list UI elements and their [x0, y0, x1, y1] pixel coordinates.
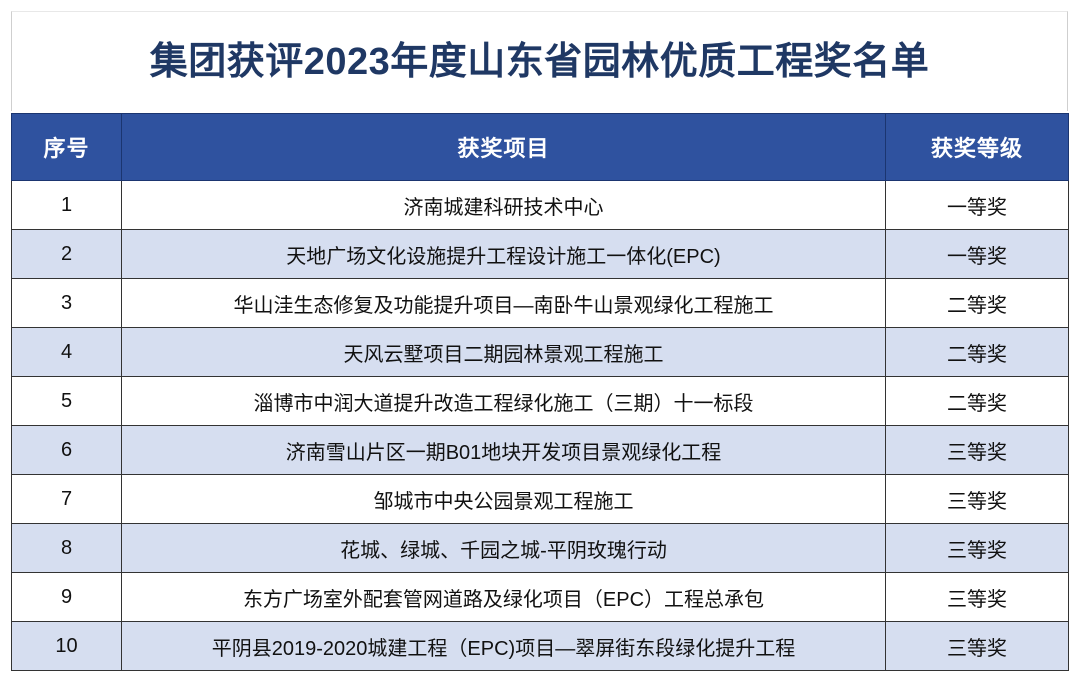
cell-serial-number: 5 [12, 377, 122, 426]
table-body: 1济南城建科研技术中心一等奖2天地广场文化设施提升工程设计施工一体化(EPC)一… [12, 181, 1069, 671]
column-header-project: 获奖项目 [122, 114, 886, 181]
cell-serial-number: 7 [12, 475, 122, 524]
table-row: 7邹城市中央公园景观工程施工三等奖 [12, 475, 1069, 524]
table-row: 4天风云墅项目二期园林景观工程施工二等奖 [12, 328, 1069, 377]
cell-award-level: 一等奖 [886, 230, 1069, 279]
cell-serial-number: 6 [12, 426, 122, 475]
cell-project-name: 华山洼生态修复及功能提升项目—南卧牛山景观绿化工程施工 [122, 279, 886, 328]
table-row: 1济南城建科研技术中心一等奖 [12, 181, 1069, 230]
award-list-table: 序号 获奖项目 获奖等级 1济南城建科研技术中心一等奖2天地广场文化设施提升工程… [11, 113, 1069, 671]
title-band: 集团获评2023年度山东省园林优质工程奖名单 [11, 11, 1068, 111]
table-row: 3华山洼生态修复及功能提升项目—南卧牛山景观绿化工程施工二等奖 [12, 279, 1069, 328]
cell-serial-number: 10 [12, 622, 122, 671]
cell-award-level: 二等奖 [886, 377, 1069, 426]
column-header-award-level: 获奖等级 [886, 114, 1069, 181]
cell-serial-number: 4 [12, 328, 122, 377]
cell-award-level: 三等奖 [886, 475, 1069, 524]
cell-award-level: 二等奖 [886, 279, 1069, 328]
cell-award-level: 三等奖 [886, 524, 1069, 573]
table-row: 5淄博市中润大道提升改造工程绿化施工（三期）十一标段二等奖 [12, 377, 1069, 426]
cell-project-name: 济南城建科研技术中心 [122, 181, 886, 230]
award-list-sheet: 集团获评2023年度山东省园林优质工程奖名单 序号 获奖项目 获奖等级 1济南城… [0, 0, 1080, 686]
cell-serial-number: 1 [12, 181, 122, 230]
cell-project-name: 天地广场文化设施提升工程设计施工一体化(EPC) [122, 230, 886, 279]
column-header-no: 序号 [12, 114, 122, 181]
cell-award-level: 一等奖 [886, 181, 1069, 230]
table-row: 8花城、绿城、千园之城-平阴玫瑰行动三等奖 [12, 524, 1069, 573]
cell-award-level: 三等奖 [886, 573, 1069, 622]
cell-serial-number: 2 [12, 230, 122, 279]
cell-serial-number: 8 [12, 524, 122, 573]
cell-award-level: 三等奖 [886, 622, 1069, 671]
cell-project-name: 东方广场室外配套管网道路及绿化项目（EPC）工程总承包 [122, 573, 886, 622]
table-header: 序号 获奖项目 获奖等级 [12, 114, 1069, 181]
cell-project-name: 邹城市中央公园景观工程施工 [122, 475, 886, 524]
table-row: 2天地广场文化设施提升工程设计施工一体化(EPC)一等奖 [12, 230, 1069, 279]
table-row: 6济南雪山片区一期B01地块开发项目景观绿化工程三等奖 [12, 426, 1069, 475]
table-row: 10平阴县2019-2020城建工程（EPC)项目—翠屏街东段绿化提升工程三等奖 [12, 622, 1069, 671]
cell-serial-number: 9 [12, 573, 122, 622]
cell-project-name: 天风云墅项目二期园林景观工程施工 [122, 328, 886, 377]
page-title: 集团获评2023年度山东省园林优质工程奖名单 [150, 43, 930, 81]
table-row: 9东方广场室外配套管网道路及绿化项目（EPC）工程总承包三等奖 [12, 573, 1069, 622]
cell-project-name: 花城、绿城、千园之城-平阴玫瑰行动 [122, 524, 886, 573]
cell-award-level: 三等奖 [886, 426, 1069, 475]
cell-project-name: 平阴县2019-2020城建工程（EPC)项目—翠屏街东段绿化提升工程 [122, 622, 886, 671]
cell-project-name: 淄博市中润大道提升改造工程绿化施工（三期）十一标段 [122, 377, 886, 426]
cell-award-level: 二等奖 [886, 328, 1069, 377]
cell-project-name: 济南雪山片区一期B01地块开发项目景观绿化工程 [122, 426, 886, 475]
cell-serial-number: 3 [12, 279, 122, 328]
table-header-row: 序号 获奖项目 获奖等级 [12, 114, 1069, 181]
